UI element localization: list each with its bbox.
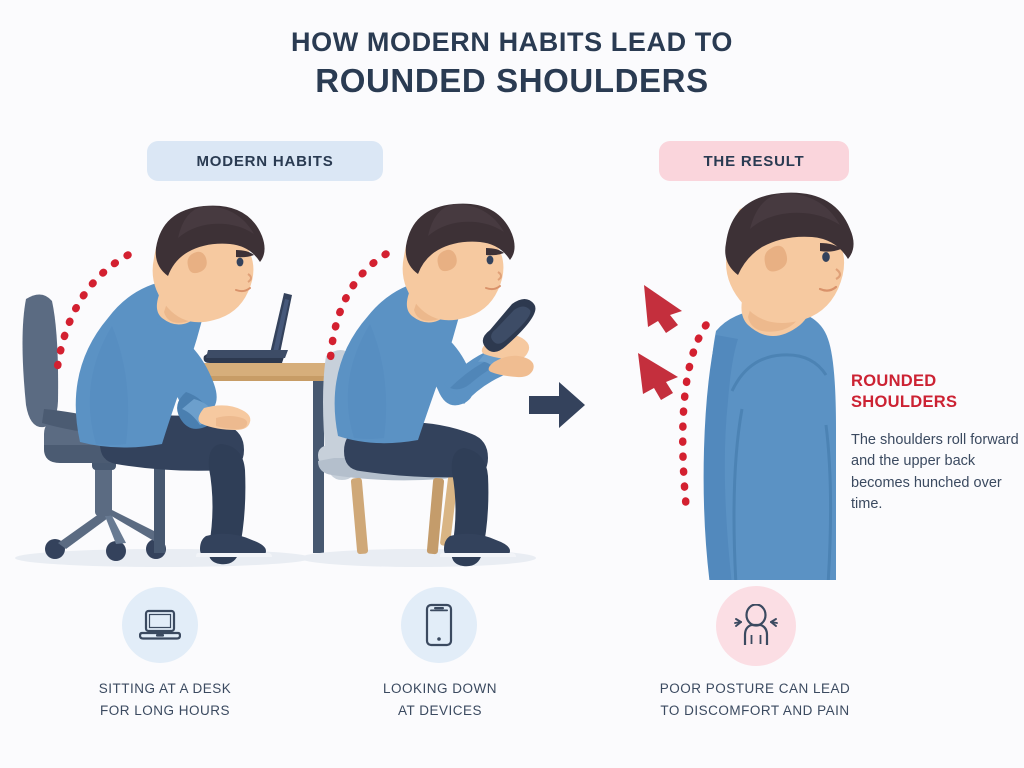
caption-looking-down: LOOKING DOWN AT DEVICES bbox=[330, 678, 550, 722]
pain-arrow-upper-icon bbox=[644, 285, 682, 333]
section-badge-the-result-label: THE RESULT bbox=[703, 153, 804, 170]
caption-poor-posture-line-1: POOR POSTURE CAN LEAD bbox=[610, 678, 900, 700]
section-badge-modern-habits: MODERN HABITS bbox=[147, 141, 383, 181]
person-graphic bbox=[704, 193, 854, 580]
pain-arrow-lower-icon bbox=[638, 353, 678, 400]
result-heading: ROUNDED SHOULDERS bbox=[851, 371, 1021, 414]
result-heading-line-1: ROUNDED bbox=[851, 371, 1021, 392]
caption-sitting-at-desk: SITTING AT A DESK FOR LONG HOURS bbox=[35, 678, 295, 722]
title-line-1: HOW MODERN HABITS LEAD TO bbox=[0, 26, 1024, 59]
title-line-2: ROUNDED SHOULDERS bbox=[0, 61, 1024, 101]
smartphone-icon bbox=[424, 603, 454, 647]
arrow-right-icon bbox=[527, 380, 589, 435]
rounded-back-dotted-curve bbox=[683, 325, 706, 505]
caption-sitting-at-desk-line-1: SITTING AT A DESK bbox=[35, 678, 295, 700]
caption-sitting-at-desk-line-2: FOR LONG HOURS bbox=[35, 700, 295, 722]
result-heading-line-2: SHOULDERS bbox=[851, 392, 1021, 413]
section-badge-modern-habits-label: MODERN HABITS bbox=[196, 153, 333, 170]
illustration-looking-down-at-phone bbox=[298, 196, 548, 581]
result-description: The shoulders roll forward and the upper… bbox=[851, 430, 1019, 516]
laptop-icon bbox=[139, 607, 181, 643]
page-title: HOW MODERN HABITS LEAD TO ROUNDED SHOULD… bbox=[0, 26, 1024, 101]
section-badge-the-result: THE RESULT bbox=[659, 141, 849, 181]
infographic-canvas: HOW MODERN HABITS LEAD TO ROUNDED SHOULD… bbox=[0, 0, 1024, 768]
caption-poor-posture: POOR POSTURE CAN LEAD TO DISCOMFORT AND … bbox=[610, 678, 900, 722]
caption-looking-down-line-1: LOOKING DOWN bbox=[330, 678, 550, 700]
icon-badge-smartphone bbox=[401, 587, 477, 663]
icon-badge-person-in-pain bbox=[716, 586, 796, 666]
illustration-rounded-shoulders-result bbox=[620, 185, 870, 585]
person-in-pain-icon bbox=[732, 604, 780, 648]
caption-looking-down-line-2: AT DEVICES bbox=[330, 700, 550, 722]
caption-poor-posture-line-2: TO DISCOMFORT AND PAIN bbox=[610, 700, 900, 722]
illustration-sitting-at-desk bbox=[8, 196, 328, 581]
icon-badge-laptop bbox=[122, 587, 198, 663]
